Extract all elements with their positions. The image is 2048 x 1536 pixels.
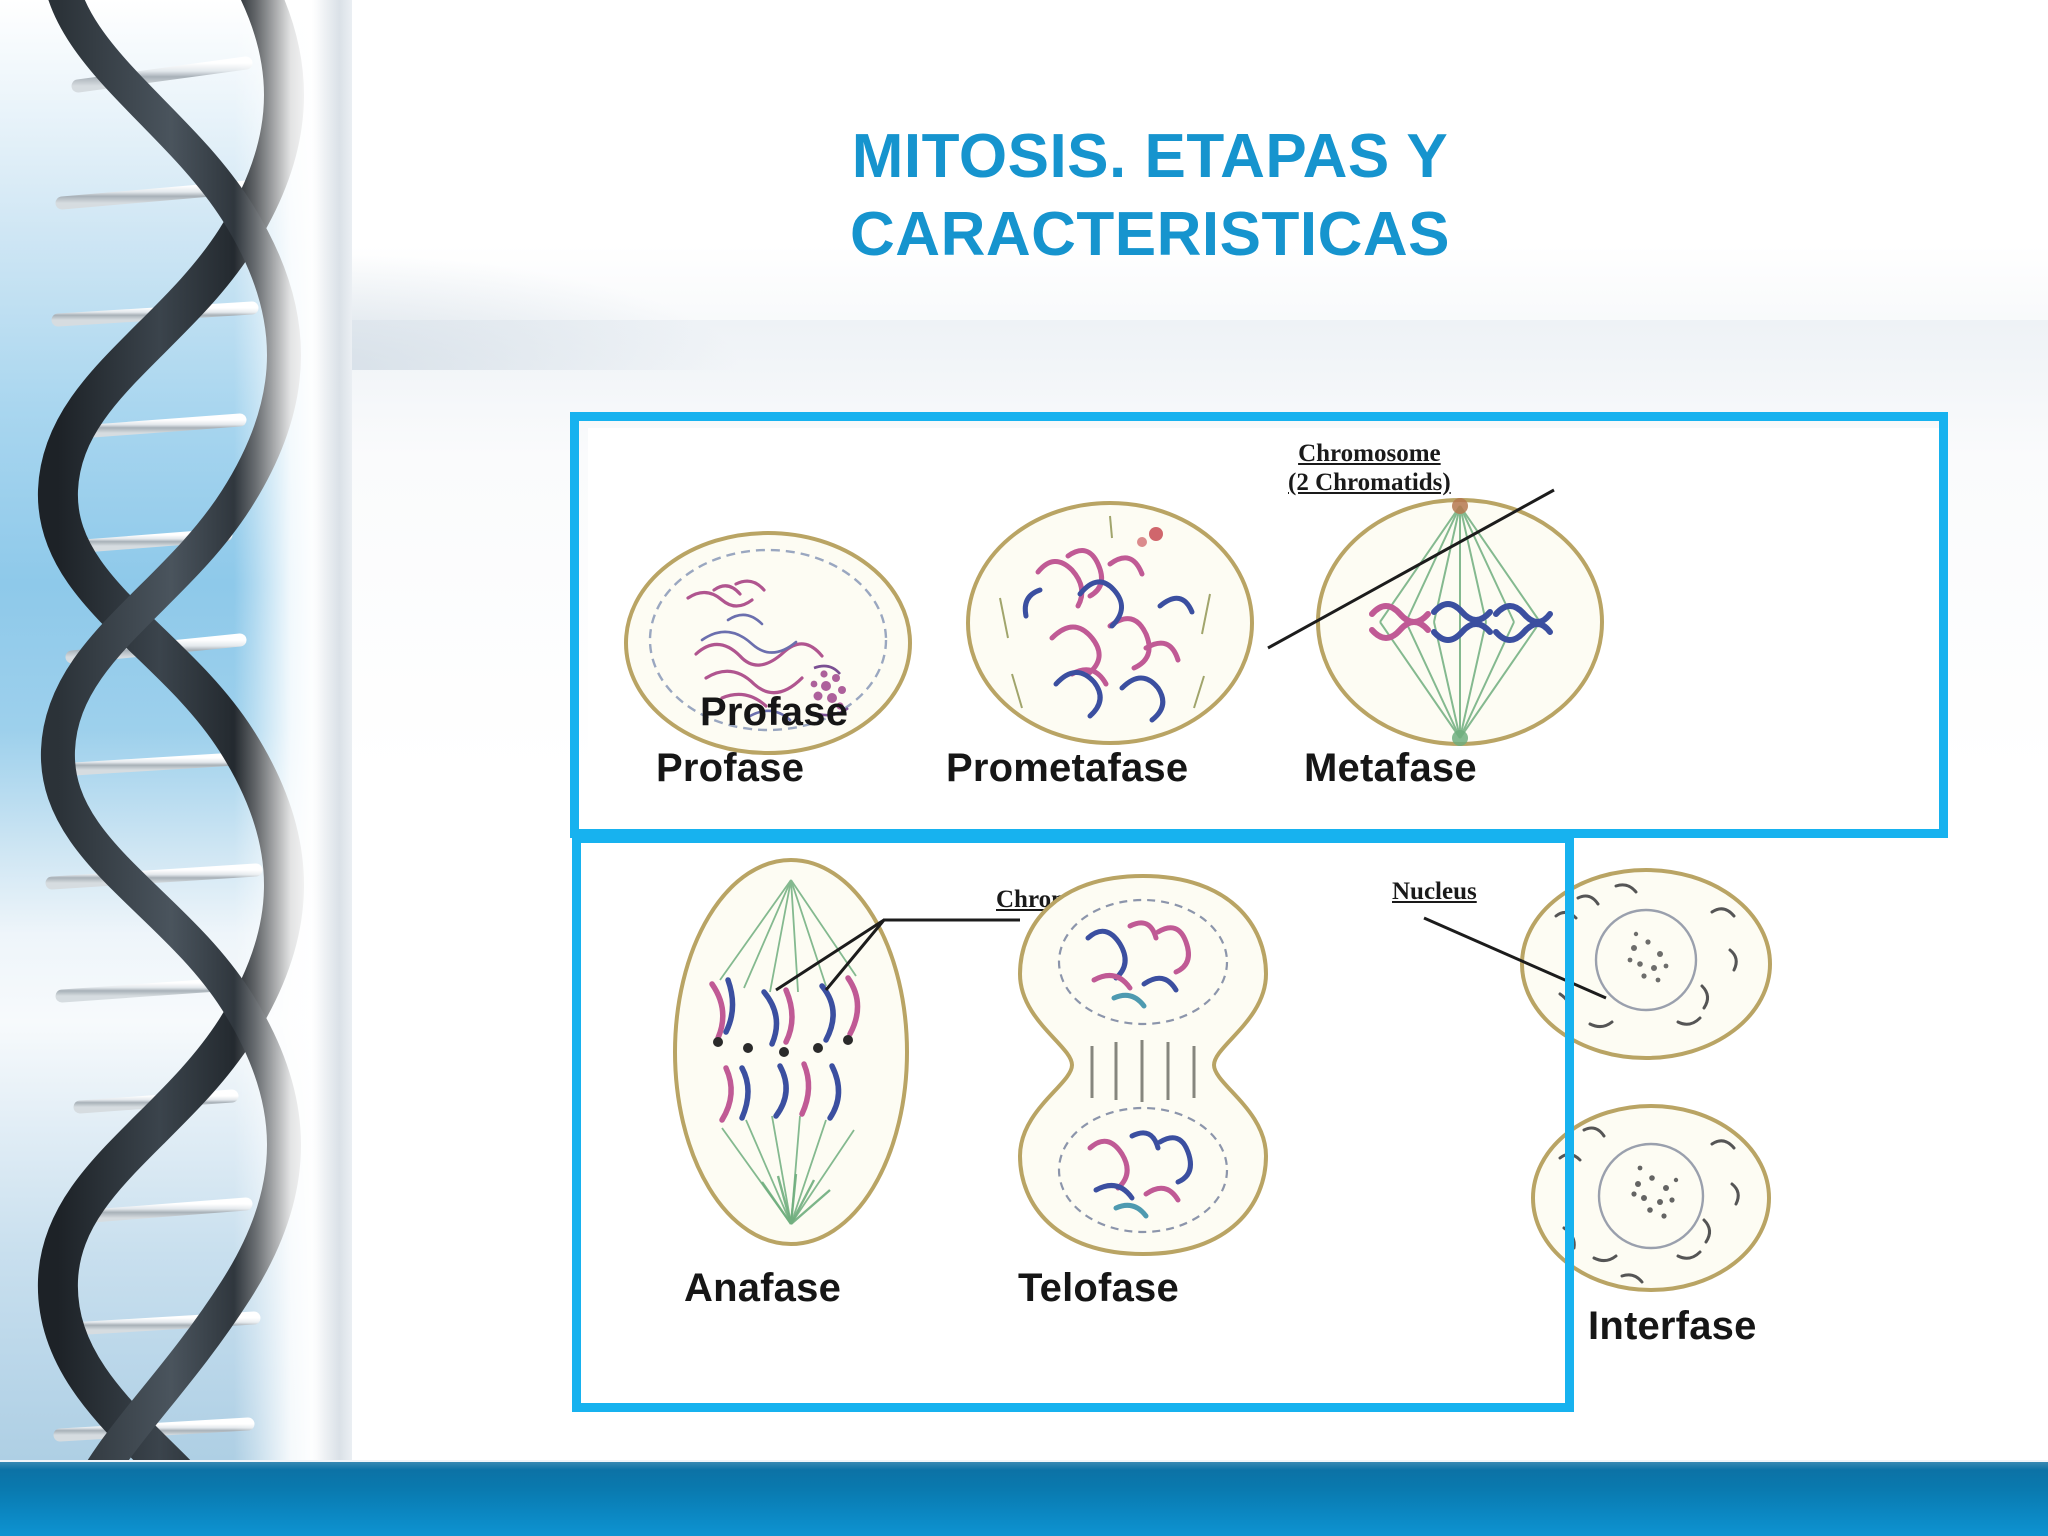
slide-title: MITOSIS. ETAPAS Y CARACTERISTICAS <box>600 118 1700 273</box>
slide-title-line-1: MITOSIS. ETAPAS Y <box>600 118 1700 196</box>
slide-title-line-2: CARACTERISTICAS <box>600 196 1700 274</box>
footer-bar-highlight <box>0 1462 2048 1470</box>
highlight-box-top <box>570 412 1948 838</box>
dna-decoration-panel <box>0 0 352 1460</box>
highlight-box-bottom <box>572 834 1574 1412</box>
footer-bar <box>0 1462 2048 1536</box>
mitosis-figure: Profase Profase <box>570 400 1970 1420</box>
slide-canvas: MITOSIS. ETAPAS Y CARACTERISTICAS <box>0 0 2048 1536</box>
panel-edge-shadow <box>312 0 352 1460</box>
cell-label-interfase: Interfase <box>1588 1304 1757 1349</box>
